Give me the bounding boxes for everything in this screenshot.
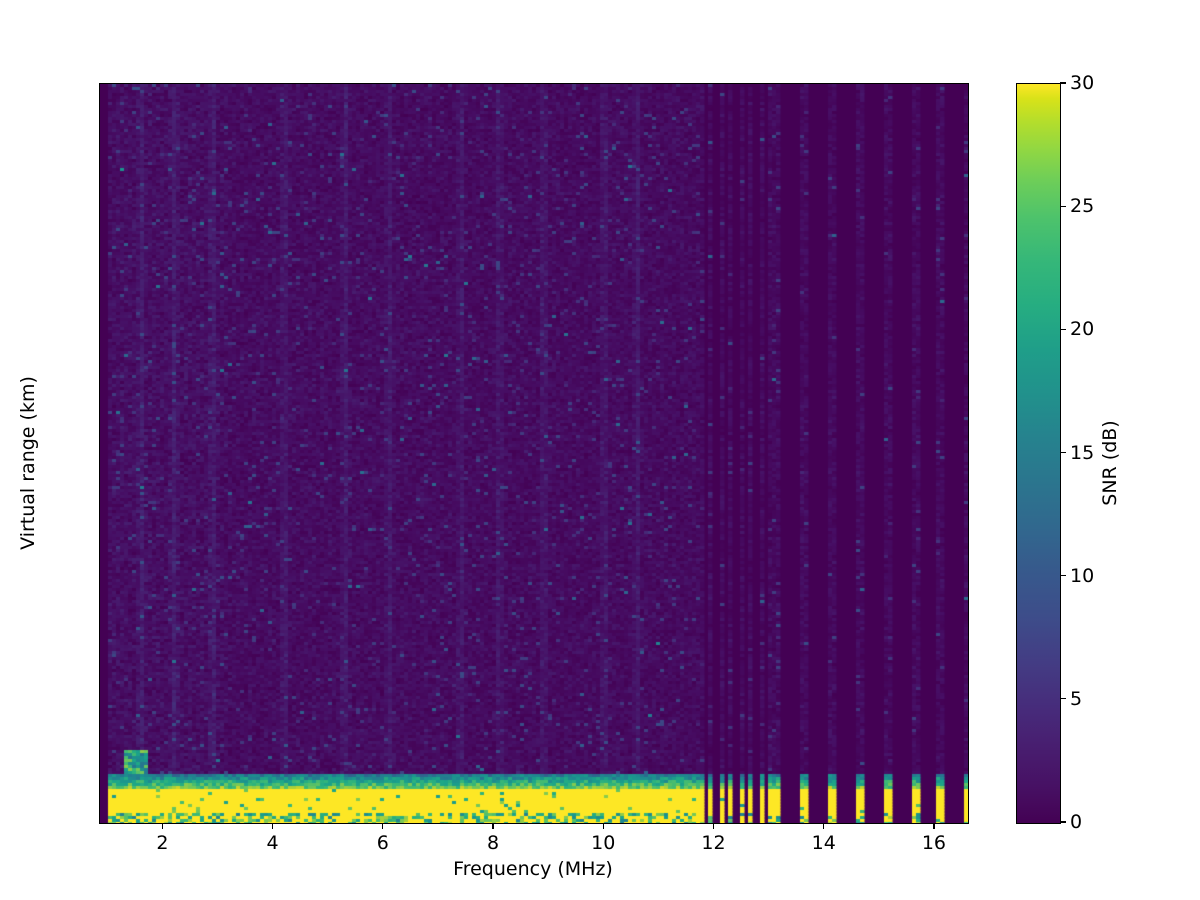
x-tick-label: 10 [591,832,615,854]
x-tick-label: 8 [487,832,499,854]
colorbar-tick-mark [1060,206,1066,207]
colorbar-label: SNR (dB) [1099,353,1121,573]
ionogram-figure: IRF Uppsala SDR Ionosonde UP158 2026-03-… [0,0,1200,900]
y-axis: 0100200300400500600 [0,0,99,900]
colorbar-tick-label: 15 [1070,442,1094,464]
x-tick-label: 16 [922,832,946,854]
colorbar-tick-mark [1060,452,1066,453]
x-tick-mark [823,823,824,829]
colorbar-tick-mark [1060,329,1066,330]
colorbar-tick-mark [1060,575,1066,576]
x-tick-label: 4 [267,832,279,854]
x-tick-mark [382,823,383,829]
x-axis-label: Frequency (MHz) [99,858,967,880]
colorbar-tick-label: 30 [1070,72,1094,94]
colorbar-tick-label: 25 [1070,195,1094,217]
x-tick-mark [162,823,163,829]
colorbar [1016,83,1061,824]
x-tick-mark [933,823,934,829]
colorbar-tick-mark [1060,698,1066,699]
colorbar-gradient [1017,84,1060,823]
colorbar-tick-mark [1060,82,1066,83]
x-tick-mark [492,823,493,829]
colorbar-tick-label: 0 [1070,811,1082,833]
x-tick-mark [272,823,273,829]
colorbar-tick-label: 20 [1070,318,1094,340]
x-tick-label: 14 [812,832,836,854]
colorbar-tick-mark [1060,821,1066,822]
ionogram-plot-area [99,83,969,824]
x-tick-label: 6 [377,832,389,854]
ionogram-heatmap-canvas [100,84,968,823]
colorbar-tick-label: 10 [1070,565,1094,587]
x-tick-mark [713,823,714,829]
x-tick-mark [603,823,604,829]
x-tick-label: 12 [701,832,725,854]
y-axis-label: Virtual range (km) [17,353,39,573]
colorbar-tick-label: 5 [1070,688,1082,710]
x-tick-label: 2 [156,832,168,854]
